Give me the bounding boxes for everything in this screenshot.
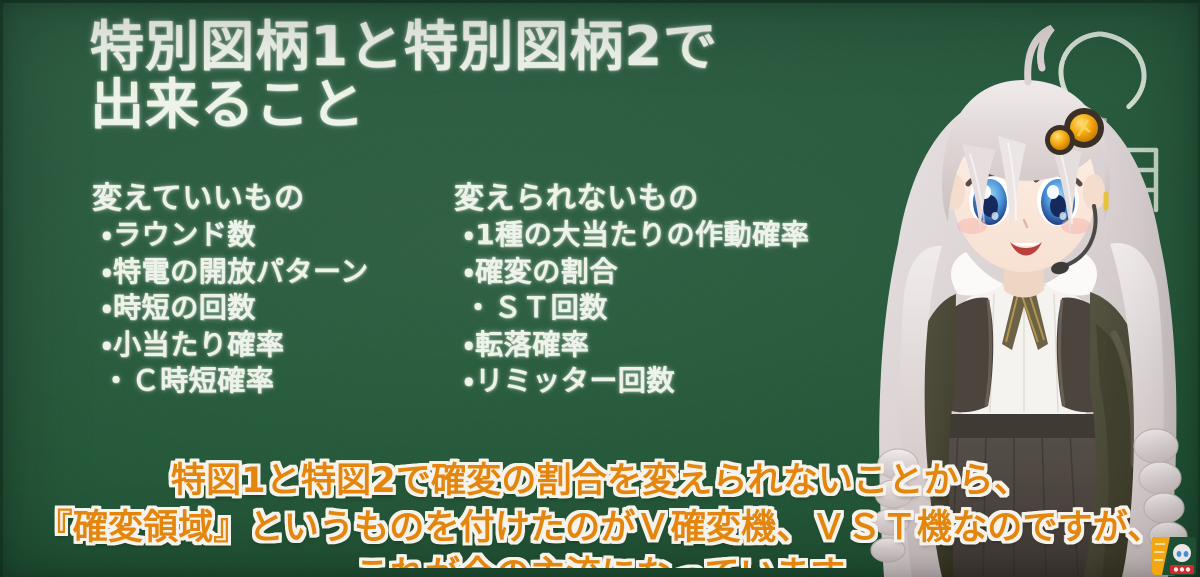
list-item-label: 特電の開放パターン [113, 255, 369, 288]
page-title: 特別図柄1と特別図柄2で 出来ること [90, 18, 880, 135]
column-list: ・ラウンド数 ・特電の開放パターン ・時短の回数 ・小当たり確率 ・Ｃ時短確率 [92, 217, 442, 399]
bullet-marker: ・ [464, 218, 474, 251]
bullet-marker: ・ [102, 255, 112, 288]
list-item: ・1種の大当たりの作動確率 [464, 217, 894, 253]
video-frame: 特別図柄1と特別図柄2で 出来ること 変えていいもの ・ラウンド数 ・特電の開放… [0, 0, 1200, 577]
subtitle-line: 特図1と特図2で確変の割合を変えられないことから、 [0, 458, 1200, 505]
bullet-marker: ・ [464, 364, 474, 397]
list-item: ・時短の回数 [102, 290, 442, 326]
list-item-label: 小当たり確率 [113, 328, 284, 361]
list-item-label: 転落確率 [475, 328, 589, 361]
list-item-label: ＳＴ回数 [494, 291, 608, 324]
list-item: ・Ｃ時短確率 [102, 363, 442, 399]
column-heading: 変えられないもの [454, 183, 894, 215]
bullet-marker: ・ [464, 291, 493, 324]
subtitle-line-clipped: これが今の主流になっています [0, 552, 1200, 568]
list-item: ・特電の開放パターン [102, 254, 442, 290]
list-item-label: リミッター回数 [475, 364, 675, 397]
column-changeable: 変えていいもの ・ラウンド数 ・特電の開放パターン ・時短の回数 ・小当たり確率… [92, 183, 442, 399]
bullet-marker: ・ [102, 218, 112, 251]
bullet-marker: ・ [102, 364, 131, 397]
list-item-label: 時短の回数 [113, 291, 256, 324]
column-unchangeable: 変えられないもの ・1種の大当たりの作動確率 ・確変の割合 ・ＳＴ回数 ・転落確… [454, 183, 894, 399]
bullet-marker: ・ [102, 328, 112, 361]
column-heading: 変えていいもの [92, 183, 442, 215]
list-item: ・リミッター回数 [464, 363, 894, 399]
channel-logo [1152, 537, 1196, 575]
list-item: ・確変の割合 [464, 254, 894, 290]
list-item-label: 確変の割合 [475, 255, 618, 288]
list-item: ・ＳＴ回数 [464, 290, 894, 326]
list-item: ・小当たり確率 [102, 327, 442, 363]
subtitle-line: 『確変領域』というものを付けたのがＶ確変機、ＶＳＴ機なのですが、 [0, 505, 1200, 552]
bullet-marker: ・ [102, 291, 112, 324]
column-list: ・1種の大当たりの作動確率 ・確変の割合 ・ＳＴ回数 ・転落確率 ・リミッター回… [454, 217, 894, 399]
list-item-label: 1種の大当たりの作動確率 [475, 218, 809, 251]
subtitle-block: 特図1と特図2で確変の割合を変えられないことから、 『確変領域』というものを付け… [0, 458, 1200, 568]
bullet-marker: ・ [464, 328, 474, 361]
list-item: ・転落確率 [464, 327, 894, 363]
list-item-label: Ｃ時短確率 [132, 364, 275, 397]
bullet-marker: ・ [464, 255, 474, 288]
list-item-label: ラウンド数 [113, 218, 256, 251]
list-item: ・ラウンド数 [102, 217, 442, 253]
